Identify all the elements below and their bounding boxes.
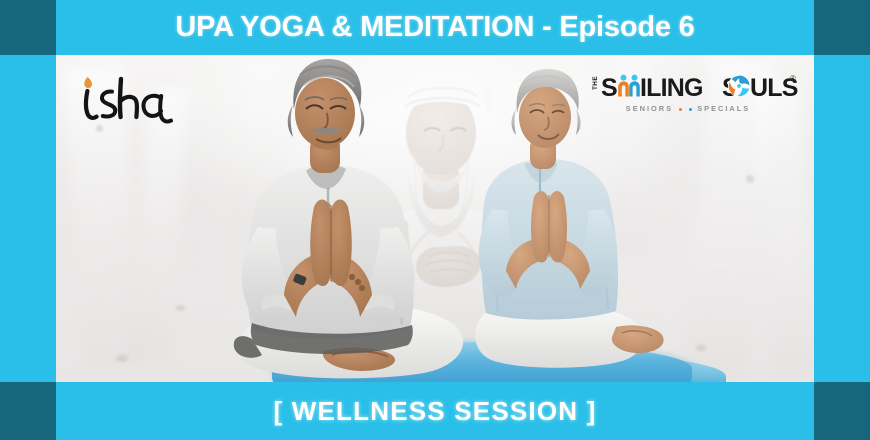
footer-bar: [ WELLNESS SESSION ] <box>0 382 870 440</box>
event-banner: THE S ILING S <box>0 0 870 440</box>
tagline-dot-orange-icon <box>679 108 682 111</box>
smiling-s-text: S <box>601 74 617 101</box>
side-rail-right <box>814 55 870 382</box>
smiling-souls-tagline: SENIORS SPECIALS <box>590 104 800 113</box>
isha-logo[interactable] <box>70 67 180 129</box>
banner-title: UPA YOGA & MEDITATION - Episode 6 <box>56 0 814 55</box>
session-type-caption: [ WELLNESS SESSION ] <box>56 382 814 440</box>
two-people-m-icon <box>618 75 640 97</box>
footer-corner-right <box>814 382 870 440</box>
tagline-seniors-text: SENIORS <box>626 104 673 113</box>
smiling-souls-wordmark: THE S ILING S <box>590 71 800 101</box>
footer-corner-left <box>0 382 56 440</box>
registered-mark-text: ® <box>790 74 796 83</box>
header-corner-right <box>814 0 870 55</box>
side-rail-left <box>0 55 56 382</box>
tagline-dot-blue-icon <box>689 108 692 111</box>
smiling-souls-logo[interactable]: THE S ILING S <box>590 71 800 129</box>
elderly-man-namaste <box>234 59 463 378</box>
header-corner-left <box>0 0 56 55</box>
smiling-souls-wordmark-svg: THE S ILING S <box>590 71 800 101</box>
tagline-specials-text: SPECIALS <box>697 104 750 113</box>
photo-stage: THE S ILING S <box>56 55 814 382</box>
header-bar: UPA YOGA & MEDITATION - Episode 6 <box>0 0 870 55</box>
the-prefix-text: THE <box>592 76 599 90</box>
pinwheel-o-icon <box>728 75 750 97</box>
isha-flame-dot <box>84 77 92 88</box>
smiling-iling-text: ILING <box>640 74 703 101</box>
